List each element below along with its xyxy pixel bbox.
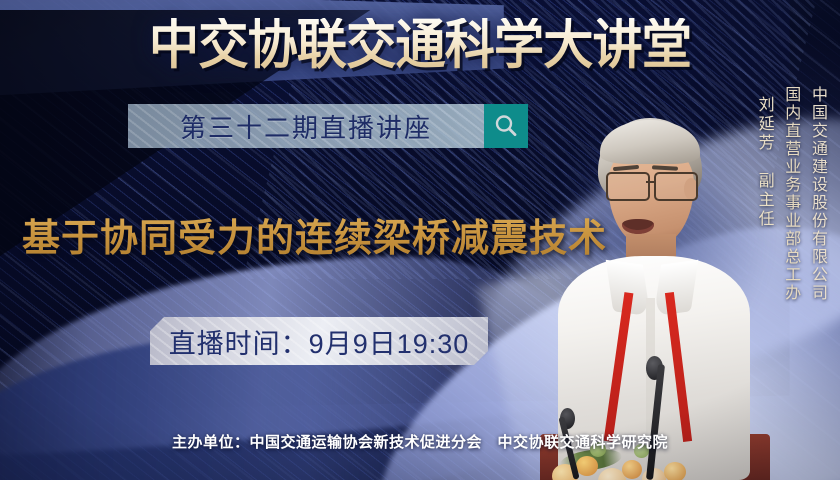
glasses-lens-left bbox=[606, 172, 650, 201]
speaker-info-block: 刘延芳 副主任 国内直营业务事业部总工办 中国交通建设股份有限公司 bbox=[752, 86, 828, 302]
flower bbox=[622, 460, 642, 479]
search-button[interactable] bbox=[484, 104, 528, 148]
subtitle-plate: 第三十二期直播讲座 bbox=[128, 104, 484, 148]
live-time-plate: 直播时间：9月9日19:30 bbox=[150, 317, 488, 365]
subtitle-label: 第三十二期直播讲座 bbox=[180, 108, 432, 145]
glasses-bridge bbox=[646, 181, 656, 183]
flower bbox=[576, 456, 598, 476]
lecture-topic: 基于协同受力的连续梁桥减震技术 bbox=[22, 207, 607, 262]
speaker-photo bbox=[556, 116, 752, 480]
speaker-glasses bbox=[604, 172, 700, 198]
live-time-label: 直播时间：9月9日19:30 bbox=[169, 322, 470, 361]
speaker-name-title: 刘延芳 副主任 bbox=[752, 96, 775, 229]
livestream-poster: 中交协联交通科学大讲堂 第三十二期直播讲座 基于协同受力的连续梁桥减震技术 直播… bbox=[0, 0, 840, 480]
speaker-company: 中国交通建设股份有限公司 bbox=[805, 86, 828, 302]
flower bbox=[664, 462, 686, 480]
glasses-lens-right bbox=[654, 172, 698, 201]
subtitle-bar: 第三十二期直播讲座 bbox=[128, 104, 528, 148]
page-title: 中交协联交通科学大讲堂 bbox=[29, 18, 810, 72]
organizers-footer: 主办单位：中国交通运输协会新技术促进分会 中交协联交通科学研究院 bbox=[0, 431, 840, 452]
speaker-department: 国内直营业务事业部总工办 bbox=[779, 86, 802, 302]
search-icon bbox=[493, 113, 519, 139]
